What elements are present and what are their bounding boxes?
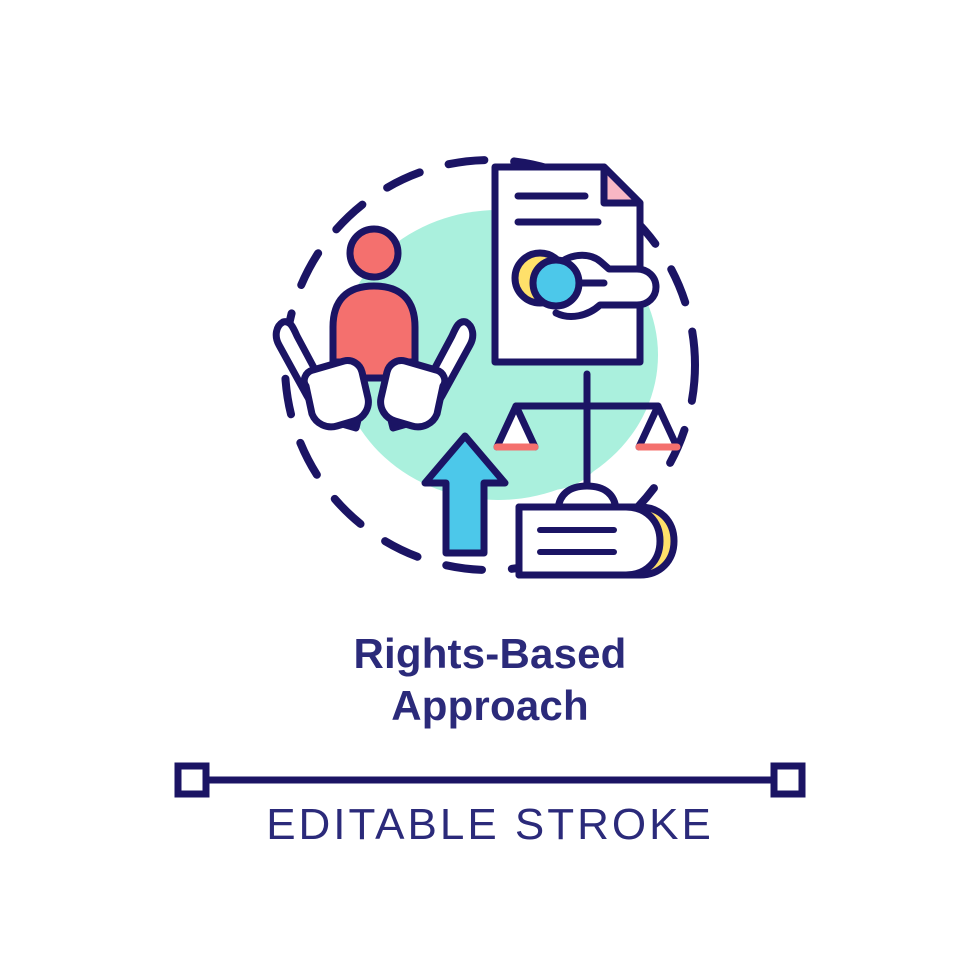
editable-stroke-rule (178, 766, 802, 794)
editable-stroke-label: EDITABLE STROKE (0, 800, 980, 850)
concept-icon-canvas: Rights-Based Approach EDITABLE STROKE (0, 0, 980, 980)
law-book (519, 507, 674, 575)
